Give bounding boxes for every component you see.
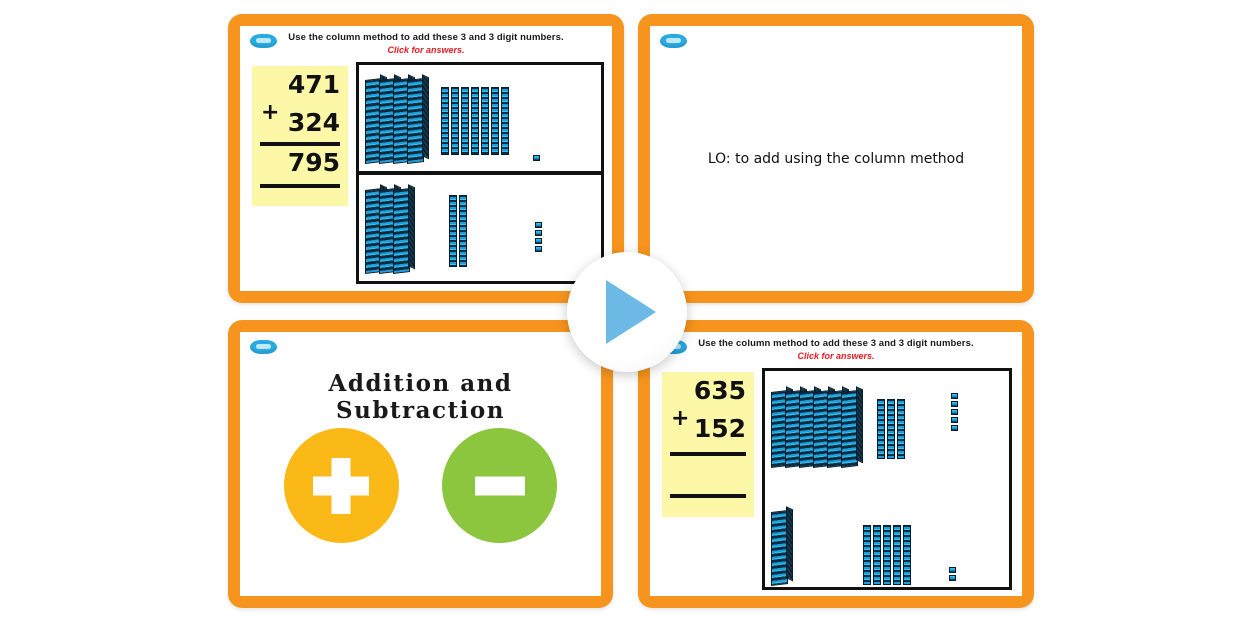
sum-answer: 795	[288, 148, 340, 177]
tens-group	[449, 195, 469, 267]
click-for-answers-text: Click for answers.	[240, 45, 612, 56]
sum-rule-bottom	[670, 494, 746, 498]
plus-icon-vertical	[332, 458, 351, 514]
ten-rod	[863, 525, 871, 585]
tens-group	[441, 87, 511, 155]
column-sum-note[interactable]: 471 + 324 795	[252, 66, 348, 206]
slide-canvas: Use the column method to add these 3 and…	[240, 26, 612, 291]
slide-preview-stage: Use the column method to add these 3 and…	[0, 0, 1260, 630]
blocks-row-operand-2	[365, 181, 601, 281]
one-cube	[535, 246, 542, 252]
ten-rod	[451, 87, 459, 155]
ones-group	[951, 393, 958, 433]
sum-rule-top	[670, 452, 746, 456]
ten-rod	[471, 87, 479, 155]
sum-rule-top	[260, 142, 340, 146]
hundreds-group	[365, 189, 407, 273]
ten-rod	[897, 399, 905, 459]
sum-rule-bottom	[260, 184, 340, 188]
one-cube	[533, 155, 540, 161]
one-cube	[951, 393, 958, 399]
slide-thumbnail-learning-objective[interactable]: LO: to add using the column method	[638, 14, 1034, 303]
hundred-flat	[841, 390, 858, 468]
ones-group	[949, 567, 956, 583]
ten-rod	[461, 87, 469, 155]
sum-operator: +	[261, 100, 279, 125]
tens-group	[863, 525, 913, 585]
slide-canvas: Addition and Subtraction	[240, 332, 601, 596]
question-instruction: Use the column method to add these 3 and…	[650, 338, 1022, 350]
ten-rod	[873, 525, 881, 585]
operation-buttons	[240, 428, 601, 543]
base-ten-blocks-panel	[356, 62, 604, 284]
blocks-row-operand-1	[771, 377, 1009, 481]
blocks-row-operand-2	[771, 493, 1009, 585]
question-instruction: Use the column method to add these 3 and…	[240, 32, 612, 44]
ten-rod	[903, 525, 911, 585]
slide-canvas: Use the column method to add these 3 and…	[650, 332, 1022, 596]
ten-rod	[887, 399, 895, 459]
hundreds-group	[771, 391, 855, 467]
base-ten-blocks-panel	[762, 368, 1012, 590]
sum-operator: +	[671, 406, 689, 431]
one-cube	[535, 238, 542, 244]
slide-thumbnail-question-471-324[interactable]: Use the column method to add these 3 and…	[228, 14, 624, 303]
one-cube	[951, 409, 958, 415]
one-cube	[951, 425, 958, 431]
ten-rod	[491, 87, 499, 155]
page-title: Addition and Subtraction	[240, 370, 601, 424]
sum-operand-2: 152	[694, 414, 746, 443]
one-cube	[951, 417, 958, 423]
blocks-row-operand-1	[365, 71, 601, 171]
slide-thumbnail-title[interactable]: Addition and Subtraction	[228, 320, 613, 608]
panel-divider	[359, 171, 601, 175]
ten-rod	[883, 525, 891, 585]
ten-rod	[459, 195, 467, 267]
ones-group	[533, 155, 540, 163]
question-header: Use the column method to add these 3 and…	[240, 32, 612, 56]
tens-group	[877, 399, 907, 459]
ones-group	[535, 222, 542, 254]
twinkl-logo-icon	[660, 34, 687, 48]
click-for-answers-text: Click for answers.	[650, 351, 1022, 362]
sum-operand-1: 635	[694, 376, 746, 405]
question-header: Use the column method to add these 3 and…	[650, 338, 1022, 362]
column-sum-note[interactable]: 635 + 152	[662, 372, 754, 517]
one-cube	[951, 401, 958, 407]
hundred-flat	[771, 510, 788, 586]
ten-rod	[449, 195, 457, 267]
minus-icon	[475, 476, 525, 495]
twinkl-logo-icon	[250, 340, 277, 354]
hundreds-group	[365, 79, 421, 163]
learning-objective-text: LO: to add using the column method	[650, 151, 1022, 167]
ten-rod	[893, 525, 901, 585]
twinkl-logo-icon	[250, 34, 277, 48]
play-triangle-icon	[606, 280, 656, 344]
ten-rod	[441, 87, 449, 155]
ten-rod	[877, 399, 885, 459]
addition-button[interactable]	[284, 428, 399, 543]
play-video-button[interactable]	[567, 252, 687, 372]
subtraction-button[interactable]	[442, 428, 557, 543]
one-cube	[949, 567, 956, 573]
ten-rod	[481, 87, 489, 155]
slide-thumbnail-question-635-152[interactable]: Use the column method to add these 3 and…	[638, 320, 1034, 608]
hundreds-group	[771, 511, 785, 585]
one-cube	[535, 230, 542, 236]
sum-operand-1: 471	[288, 70, 340, 99]
one-cube	[949, 575, 956, 581]
ten-rod	[501, 87, 509, 155]
one-cube	[535, 222, 542, 228]
hundred-flat	[407, 78, 424, 164]
hundred-flat	[393, 188, 410, 274]
sum-operand-2: 324	[288, 108, 340, 137]
slide-canvas: LO: to add using the column method	[650, 26, 1022, 291]
